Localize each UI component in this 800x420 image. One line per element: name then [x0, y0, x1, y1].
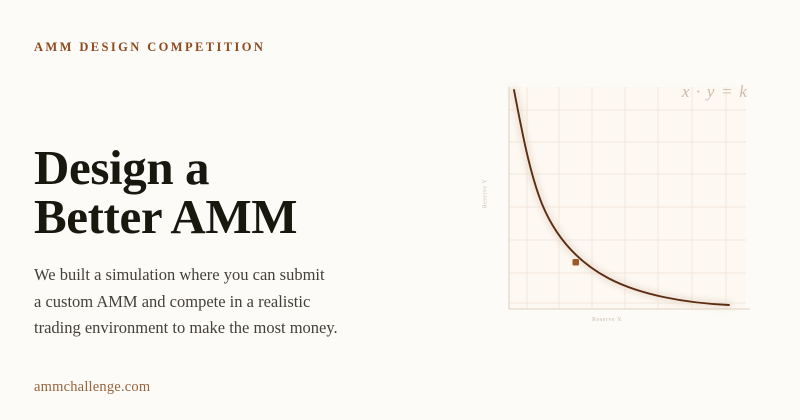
- page-title: Design a Better AMM: [34, 144, 434, 241]
- description-line-1: We built a simulation where you can subm…: [34, 262, 414, 289]
- description-line-3: trading environment to make the most mon…: [34, 315, 414, 342]
- headline-line-2: Better AMM: [34, 193, 434, 242]
- eyebrow-label: AMM DESIGN COMPETITION: [34, 40, 265, 55]
- amm-curve-chart: Reserve X Reserve Y x · y = k: [480, 62, 780, 352]
- description-line-2: a custom AMM and compete in a realistic: [34, 289, 414, 316]
- plot-background: [509, 87, 746, 309]
- equation-annotation: x · y = k: [682, 82, 748, 102]
- poster-canvas: AMM DESIGN COMPETITION Design a Better A…: [0, 0, 800, 420]
- y-axis-label: Reserve Y: [481, 179, 488, 209]
- headline-line-1: Design a: [34, 144, 434, 193]
- website-url-link[interactable]: ammchallenge.com: [34, 379, 150, 396]
- pool-state-marker[interactable]: [573, 259, 580, 266]
- hero-description: We built a simulation where you can subm…: [34, 262, 414, 342]
- hero-text-column: AMM DESIGN COMPETITION Design a Better A…: [34, 0, 464, 420]
- chart-svg: [480, 62, 780, 352]
- x-axis-label: Reserve X: [592, 316, 622, 323]
